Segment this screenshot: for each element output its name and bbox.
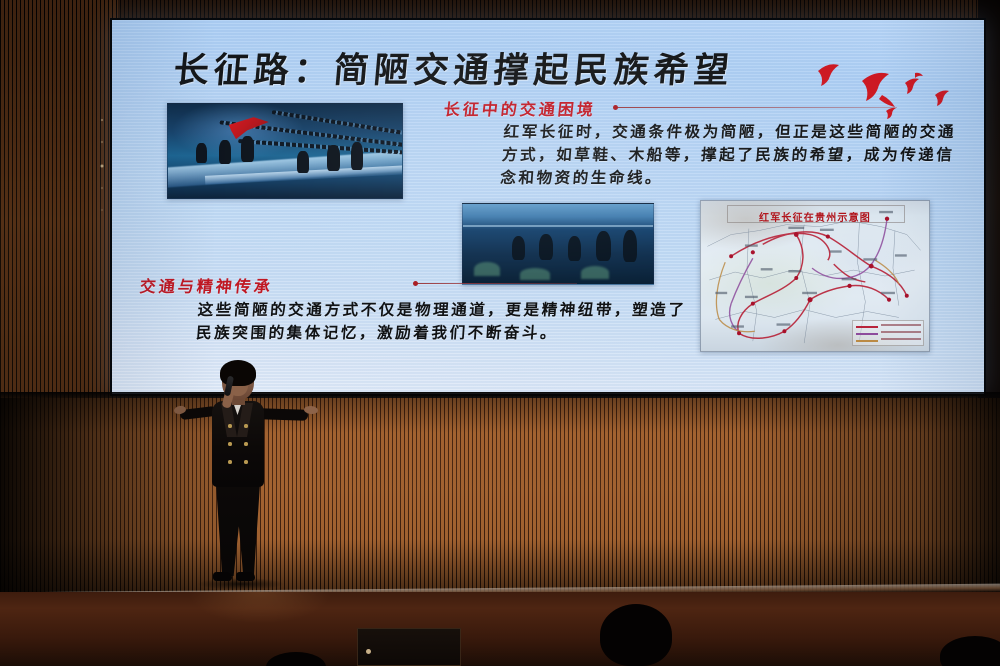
flying-birds-icon bbox=[802, 55, 952, 125]
screen-bezel-indicator-lights bbox=[98, 112, 106, 222]
presenter-button bbox=[228, 442, 232, 446]
soldier-figure bbox=[512, 236, 525, 260]
slide-title: 长征路：简陋交通撑起民族希望 bbox=[172, 42, 736, 93]
slide-image-grassland-march bbox=[462, 203, 654, 285]
horizon-line bbox=[463, 225, 653, 227]
presenter bbox=[180, 362, 330, 592]
legend-label-3 bbox=[881, 338, 921, 340]
stage-floor bbox=[0, 592, 1000, 666]
soldier-figure bbox=[297, 151, 309, 173]
presenter-button bbox=[228, 460, 232, 464]
presenter-hair bbox=[220, 360, 256, 386]
presenter-button bbox=[228, 424, 232, 428]
soldier-figure bbox=[351, 142, 363, 170]
projection-screen: 长征路：简陋交通撑起民族希望 长征中的交通困境 红军长征时，交通条件极为简陋，但… bbox=[110, 18, 986, 396]
presentation-slide: 长征路：简陋交通撑起民族希望 长征中的交通困境 红军长征时，交通条件极为简陋，但… bbox=[112, 20, 984, 394]
legend-line-1 bbox=[856, 326, 878, 328]
section-body-1: 红军长征时，交通条件极为简陋，但正是这些简陋的交通方式，如草鞋、木船等，撑起了民… bbox=[500, 120, 975, 189]
legend-label-1 bbox=[881, 324, 921, 326]
auditorium-scene: 长征路：简陋交通撑起民族希望 长征中的交通困境 红军长征时，交通条件极为简陋，但… bbox=[0, 0, 1000, 666]
soldier-figure bbox=[596, 231, 611, 261]
presenter-button bbox=[244, 460, 248, 464]
map-legend bbox=[852, 320, 924, 346]
section-rule-2 bbox=[417, 283, 577, 284]
stage-podium bbox=[357, 628, 461, 666]
soldier-figure bbox=[623, 230, 637, 262]
podium-knob bbox=[366, 649, 371, 654]
grass-tuft bbox=[520, 268, 550, 280]
stage-wall-shading bbox=[0, 398, 1000, 594]
legend-line-2 bbox=[856, 333, 878, 335]
section-rule-1 bbox=[617, 107, 897, 108]
presenter-right-arm bbox=[258, 408, 308, 421]
presenter-button bbox=[244, 424, 248, 428]
legend-line-3 bbox=[856, 340, 878, 342]
map-title: 红军长征在贵州示意图 bbox=[759, 209, 871, 224]
presenter-button bbox=[244, 442, 248, 446]
grass-tuft bbox=[581, 266, 609, 279]
section-body-2: 这些简陋的交通方式不仅是物理通道，更是精神纽带，塑造了民族突围的集体记忆，激励着… bbox=[195, 298, 698, 344]
soldier-figure bbox=[241, 136, 254, 162]
audience-head-silhouette bbox=[600, 604, 672, 666]
soldier-figure bbox=[196, 143, 207, 163]
presenter-shoe-right bbox=[236, 572, 255, 581]
slide-image-guizhou-map: 红军长征在贵州示意图 bbox=[700, 200, 930, 352]
presenter-torso bbox=[212, 401, 264, 487]
slide-image-luding-bridge bbox=[167, 103, 403, 199]
presenter-shoe-left bbox=[213, 572, 232, 581]
legend-label-2 bbox=[881, 331, 921, 333]
soldier-figure bbox=[568, 236, 581, 261]
soldier-figure bbox=[219, 140, 231, 164]
section-heading-2: 交通与精神传承 bbox=[139, 273, 275, 297]
soldier-figure bbox=[327, 145, 340, 171]
section-heading-1: 长征中的交通困境 bbox=[443, 96, 598, 120]
soldier-figure bbox=[539, 234, 553, 260]
presenter-legs bbox=[216, 484, 260, 576]
grass-tuft bbox=[474, 262, 500, 276]
stage-floor-reflection bbox=[160, 592, 360, 654]
